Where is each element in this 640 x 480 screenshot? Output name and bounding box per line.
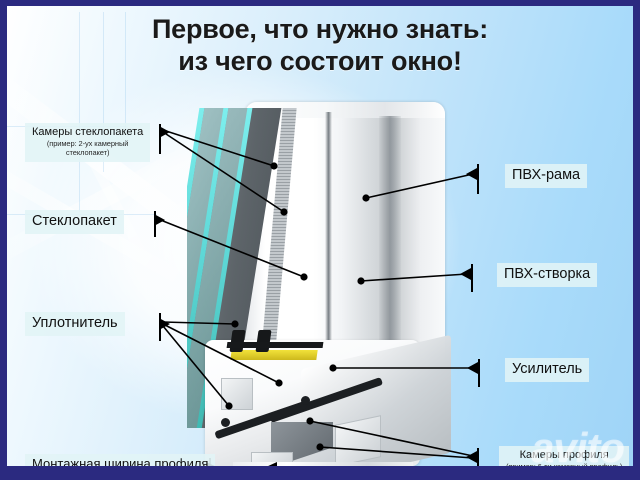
leader-tick: [154, 211, 156, 237]
leader-tick: [477, 164, 479, 194]
callout-profile-chambers-sub: (пример: 6-ти камерный профиль): [506, 463, 622, 472]
callout-profile-chambers: Камеры профиля (пример: 6-ти камерный пр…: [499, 446, 629, 475]
callout-glass-unit: Стеклопакет: [25, 210, 124, 234]
callout-glass-chambers-sub1: (пример: 2-ух камерный: [32, 140, 143, 149]
callout-pvc-sash: ПВХ-створка: [497, 263, 597, 287]
callout-glass-chambers: Камеры стеклопакета (пример: 2-ух камерн…: [25, 123, 150, 162]
leader-tick: [159, 313, 161, 341]
callout-seal-text: Уплотнитель: [32, 315, 118, 331]
leader-tick: [478, 359, 480, 387]
callout-profile-chambers-text: Камеры профиля: [520, 449, 609, 461]
callout-mounting-width: Монтажная ширина профиля: [25, 454, 215, 476]
callout-glass-unit-text: Стеклопакет: [32, 213, 117, 229]
callout-reinforcement: Усилитель: [505, 358, 589, 382]
callout-seal: Уплотнитель: [25, 312, 125, 336]
callout-pvc-frame: ПВХ-рама: [505, 164, 587, 188]
callout-mounting-width-text: Монтажная ширина профиля: [32, 456, 208, 471]
leader-tick: [159, 124, 161, 154]
infographic-root: Первое, что нужно знать: из чего состоит…: [0, 0, 640, 480]
leader-tick: [471, 264, 473, 292]
callout-pvc-frame-text: ПВХ-рама: [512, 167, 580, 183]
leader-lines: [7, 6, 640, 480]
callout-glass-chambers-text: Камеры стеклопакета: [32, 126, 143, 138]
callout-reinforcement-text: Усилитель: [512, 361, 582, 377]
leader-tick: [477, 448, 479, 474]
callout-glass-chambers-sub2: стеклопакет): [32, 149, 143, 158]
callout-pvc-sash-text: ПВХ-створка: [504, 266, 590, 282]
